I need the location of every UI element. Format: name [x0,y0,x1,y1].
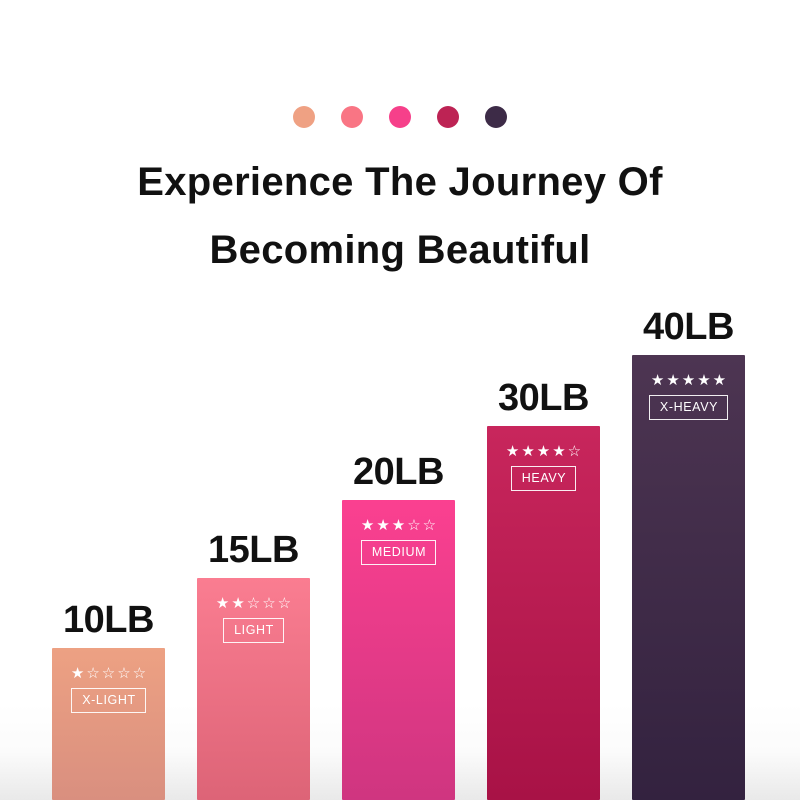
bar-15lb-weight-label: 15LB [208,528,299,572]
bar-15lb-level-tag: LIGHT [223,618,284,643]
bar-30lb-weight-label: 30LB [498,376,589,420]
bar-40lb-level-tag: X-HEAVY [649,395,728,420]
bar-15lb-badge: ★★☆☆☆LIGHT [197,596,310,643]
star-empty-icon: ☆ [133,666,146,681]
star-filled-icon: ★ [231,596,244,611]
bar-30lb[interactable]: 30LB★★★★☆HEAVY [487,426,600,800]
bar-10lb-weight-label: 10LB [63,598,154,642]
star-empty-icon: ☆ [86,666,99,681]
star-empty-icon: ☆ [117,666,130,681]
bar-40lb[interactable]: 40LB★★★★★X-HEAVY [632,355,745,800]
star-filled-icon: ★ [651,373,664,388]
star-empty-icon: ☆ [262,596,275,611]
star-empty-icon: ☆ [278,596,291,611]
star-filled-icon: ★ [697,373,710,388]
bar-20lb-weight-label: 20LB [353,450,444,494]
star-filled-icon: ★ [506,444,519,459]
bar-40lb-star-rating: ★★★★★ [651,373,726,388]
star-filled-icon: ★ [376,518,389,533]
star-empty-icon: ☆ [568,444,581,459]
bar-40lb-column[interactable] [632,355,745,800]
star-filled-icon: ★ [392,518,405,533]
star-filled-icon: ★ [666,373,679,388]
bar-10lb[interactable]: 10LB★☆☆☆☆X-LIGHT [52,648,165,800]
star-filled-icon: ★ [521,444,534,459]
bar-10lb-star-rating: ★☆☆☆☆ [71,666,146,681]
bar-30lb-level-tag: HEAVY [511,466,576,491]
bar-10lb-level-tag: X-LIGHT [71,688,146,713]
star-filled-icon: ★ [216,596,229,611]
bar-10lb-badge: ★☆☆☆☆X-LIGHT [52,666,165,713]
bar-40lb-badge: ★★★★★X-HEAVY [632,373,745,420]
star-filled-icon: ★ [682,373,695,388]
star-filled-icon: ★ [71,666,84,681]
star-filled-icon: ★ [552,444,565,459]
star-filled-icon: ★ [361,518,374,533]
bar-20lb-badge: ★★★☆☆MEDIUM [342,518,455,565]
star-empty-icon: ☆ [247,596,260,611]
bar-40lb-weight-label: 40LB [643,305,734,349]
bar-30lb-badge: ★★★★☆HEAVY [487,444,600,491]
star-filled-icon: ★ [537,444,550,459]
star-filled-icon: ★ [713,373,726,388]
star-empty-icon: ☆ [407,518,420,533]
bar-20lb[interactable]: 20LB★★★☆☆MEDIUM [342,500,455,800]
product-infographic: Experience The Journey Of Becoming Beaut… [0,0,800,800]
star-empty-icon: ☆ [423,518,436,533]
bar-20lb-level-tag: MEDIUM [361,540,436,565]
bar-20lb-star-rating: ★★★☆☆ [361,518,436,533]
bar-15lb[interactable]: 15LB★★☆☆☆LIGHT [197,578,310,800]
star-empty-icon: ☆ [102,666,115,681]
bar-15lb-star-rating: ★★☆☆☆ [216,596,291,611]
resistance-bar-chart: 10LB★☆☆☆☆X-LIGHT15LB★★☆☆☆LIGHT20LB★★★☆☆M… [0,0,800,800]
bar-30lb-star-rating: ★★★★☆ [506,444,581,459]
